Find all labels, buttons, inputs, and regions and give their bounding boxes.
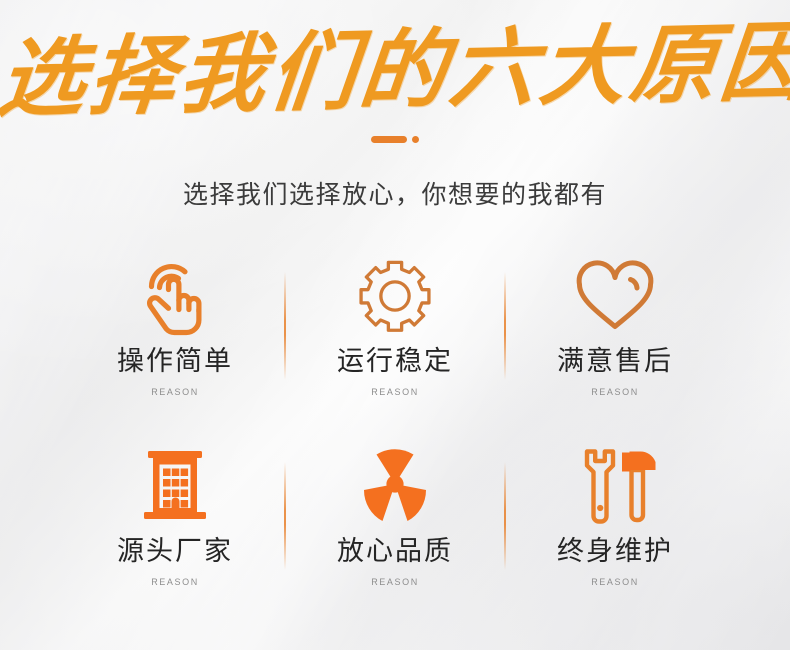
reason-label: 源头厂家 — [117, 537, 233, 567]
reason-sublabel: REASON — [371, 577, 419, 587]
reason-item-3: 满意售后 REASON — [505, 250, 725, 440]
gear-icon — [356, 250, 434, 342]
reasons-grid: 操作简单 REASON 运行稳定 REASON — [65, 250, 725, 630]
reason-label: 满意售后 — [557, 347, 673, 377]
title-section: 选择我们的六大原因 — [0, 0, 790, 116]
page-subtitle: 选择我们选择放心，你想要的我都有 — [0, 175, 790, 211]
reason-item-4: 源头厂家 REASON — [65, 440, 285, 630]
reason-sublabel: REASON — [591, 577, 639, 587]
reason-item-6: 终身维护 REASON — [505, 440, 725, 630]
wrench-hammer-icon — [571, 440, 659, 532]
reason-label: 运行稳定 — [337, 347, 453, 377]
divider-bar-icon — [371, 136, 407, 143]
radiation-icon — [353, 440, 437, 532]
factory-building-icon — [134, 440, 216, 532]
reason-sublabel: REASON — [371, 387, 419, 397]
reason-label: 放心品质 — [337, 537, 453, 567]
promo-banner: 选择我们的六大原因 选择我们选择放心，你想要的我都有 — [0, 0, 790, 650]
reason-item-2: 运行稳定 REASON — [285, 250, 505, 440]
divider-dot-icon — [412, 136, 419, 143]
tap-hand-icon — [138, 250, 212, 342]
page-title: 选择我们的六大原因 — [0, 18, 790, 125]
reason-item-1: 操作简单 REASON — [65, 250, 285, 440]
reason-label: 操作简单 — [117, 347, 233, 377]
heart-icon — [571, 250, 659, 342]
reason-sublabel: REASON — [151, 387, 199, 397]
reason-label: 终身维护 — [557, 537, 673, 567]
reason-sublabel: REASON — [151, 577, 199, 587]
reason-sublabel: REASON — [591, 387, 639, 397]
title-divider — [0, 134, 790, 144]
reason-item-5: 放心品质 REASON — [285, 440, 505, 630]
